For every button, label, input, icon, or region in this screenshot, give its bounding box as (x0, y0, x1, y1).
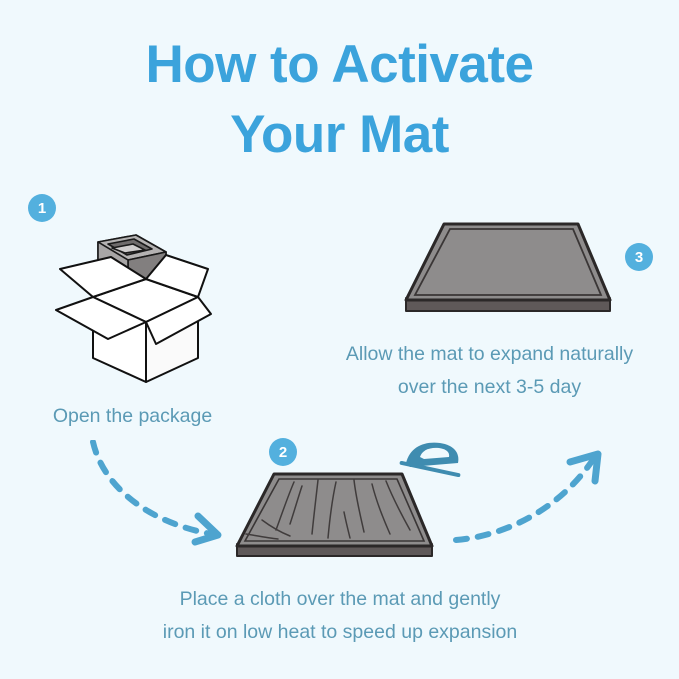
arrow-step1-to-step2 (85, 440, 245, 548)
arrow-step2-to-step3 (452, 440, 617, 548)
page-title: How to Activate Your Mat (0, 30, 679, 170)
infographic-canvas: How to Activate Your Mat 1 (0, 0, 679, 679)
title-line-1: How to Activate (0, 30, 679, 100)
arrow-1-dashed-path (93, 442, 211, 534)
flat-mat-top-surface (406, 224, 610, 300)
step-3-caption-line-2: over the next 3-5 day (300, 371, 679, 404)
step-badge-1: 1 (28, 194, 56, 222)
step-1-caption-line-1: Open the package (0, 400, 265, 433)
flat-mat-illustration (400, 218, 615, 323)
step-1-caption: Open the package (0, 400, 265, 433)
step-2-caption-line-2: iron it on low heat to speed up expansio… (95, 616, 585, 649)
arrow-2-head (570, 454, 598, 481)
step-badge-2: 2 (269, 438, 297, 466)
open-box-illustration (48, 222, 218, 390)
step-3-caption: Allow the mat to expand naturally over t… (300, 338, 679, 404)
step-3-caption-line-1: Allow the mat to expand naturally (300, 338, 679, 371)
arrow-2-dashed-path (456, 458, 594, 540)
step-badge-2-label: 2 (279, 445, 287, 460)
step-badge-3-label: 3 (635, 250, 643, 265)
step-badge-1-label: 1 (38, 201, 46, 216)
step-2-caption-line-1: Place a cloth over the mat and gently (95, 583, 585, 616)
title-line-2: Your Mat (0, 100, 679, 170)
step-2-caption: Place a cloth over the mat and gently ir… (95, 583, 585, 649)
step-badge-3: 3 (625, 243, 653, 271)
